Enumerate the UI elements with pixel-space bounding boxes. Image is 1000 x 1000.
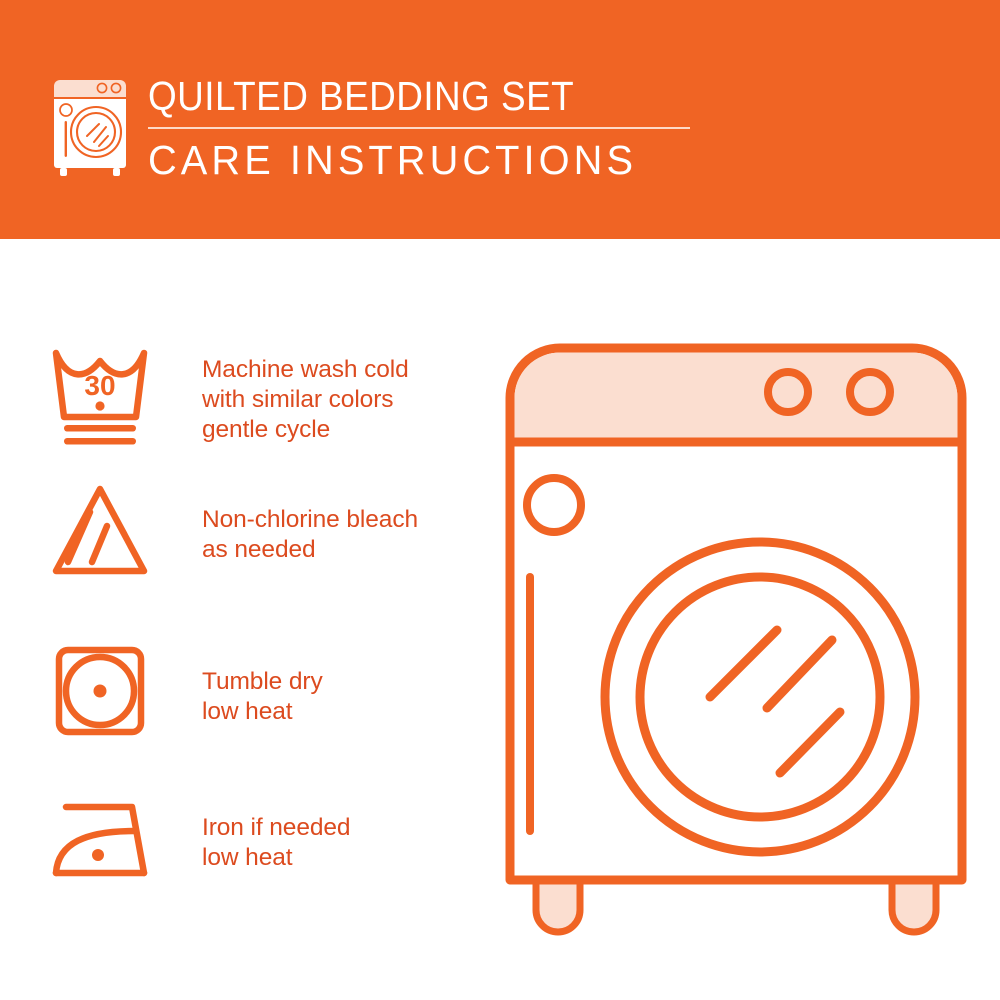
tumble-dry-low-icon — [48, 639, 166, 749]
header-title-block: QUILTED BEDDING SET CARE INSTRUCTIONS — [148, 72, 708, 182]
care-instruction-list: 30 Machine wash cold with similar colors… — [0, 239, 480, 1000]
care-text-line: Non-chlorine bleach — [202, 505, 418, 535]
non-chlorine-bleach-icon — [48, 479, 166, 589]
page-subtitle: CARE INSTRUCTIONS — [148, 136, 637, 184]
front-load-washing-machine-illustration — [492, 330, 980, 940]
care-text-line: with similar colors — [202, 385, 409, 415]
care-instructions-infographic: QUILTED BEDDING SET CARE INSTRUCTIONS 30 — [0, 0, 1000, 1000]
washer-leg — [536, 878, 580, 932]
iron-low-heat-icon — [48, 791, 166, 901]
washer-leg — [892, 878, 936, 932]
washing-machine-icon — [44, 72, 140, 176]
title-divider — [148, 127, 690, 129]
care-text-line: gentle cycle — [202, 415, 409, 445]
care-instruction-text: Iron if needed low heat — [202, 813, 350, 873]
care-text-line: low heat — [202, 843, 350, 873]
care-instruction-text: Tumble dry low heat — [202, 667, 323, 727]
care-text-line: Iron if needed — [202, 813, 350, 843]
page-title: QUILTED BEDDING SET — [148, 72, 652, 120]
care-instruction-text: Non-chlorine bleach as needed — [202, 505, 418, 565]
care-text-line: Tumble dry — [202, 667, 323, 697]
care-text-line: Machine wash cold — [202, 355, 409, 385]
detergent-drawer-slot — [526, 573, 534, 835]
wash-temperature-label: 30 — [84, 370, 115, 401]
header-banner: QUILTED BEDDING SET CARE INSTRUCTIONS — [0, 0, 1000, 239]
care-text-line: low heat — [202, 697, 323, 727]
care-text-line: as needed — [202, 535, 418, 565]
care-instruction-text: Machine wash cold with similar colors ge… — [202, 355, 409, 445]
machine-wash-30-gentle-icon: 30 — [48, 341, 166, 451]
